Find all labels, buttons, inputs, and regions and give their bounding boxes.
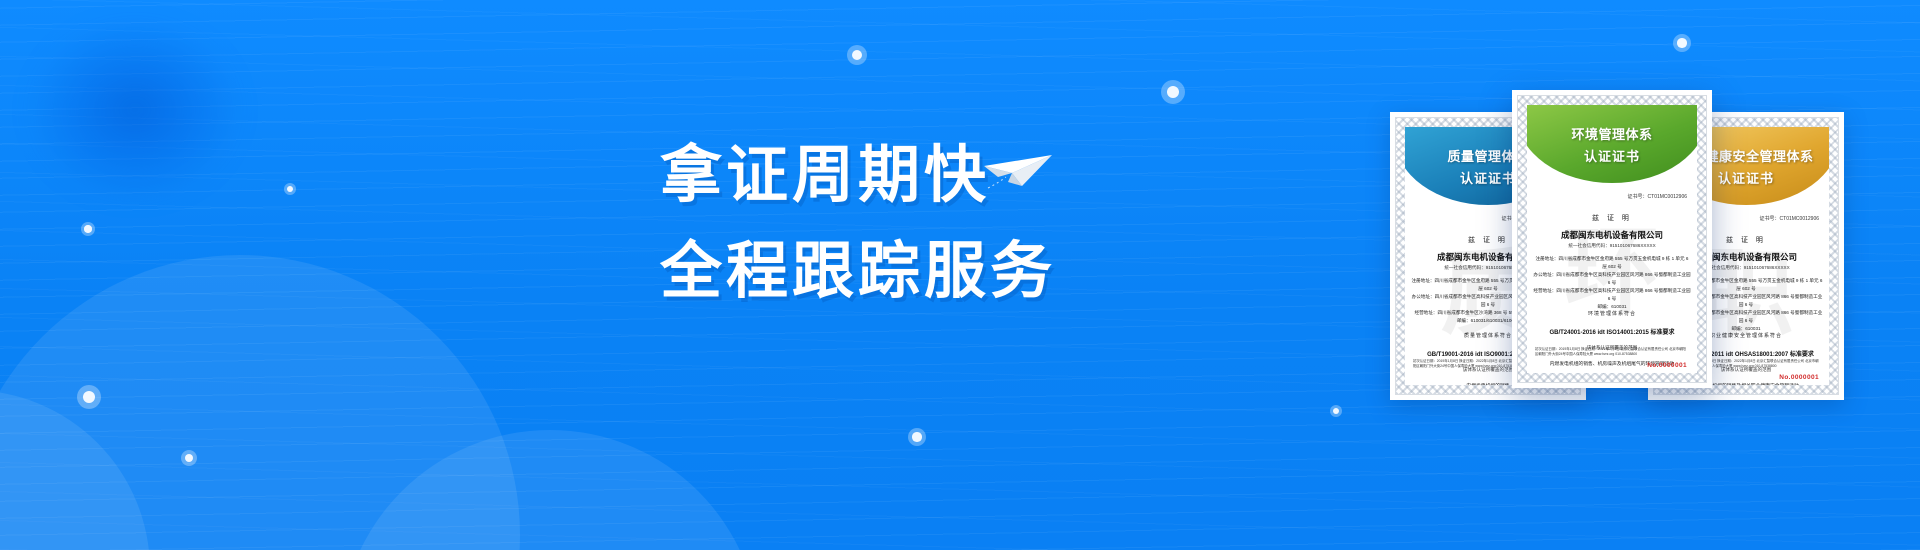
headline-row-2: 全程跟踪服务 xyxy=(660,234,1120,310)
certificate-address-line: 办公地址：四川省成都市金牛区高科技产业园区风河路 866 号蜀都制造工业园 6 … xyxy=(1533,271,1691,287)
certificate-address-line: 注册地址：四川省成都市金牛区金府路 555 号万贯五金机电城 9 栋 1 单元 … xyxy=(1533,255,1691,271)
certificate-title-band: 环境管理体系 认证证书 xyxy=(1527,105,1697,183)
certificate-serial: No.0000001 xyxy=(1647,362,1687,369)
headline-row-1: 拿证周期快 xyxy=(660,138,1120,214)
bubble-decoration-0 xyxy=(847,45,867,65)
certificate-credit-code: 统一社会信用代码：915101067686XXXXX xyxy=(1527,243,1697,249)
certificate-addresses: 注册地址：四川省成都市金牛区金府路 555 号万贯五金机电城 9 栋 1 单元 … xyxy=(1533,255,1691,311)
certificate-heading: 兹 证 明 xyxy=(1527,213,1697,223)
promo-banner: 拿证周期快 全程跟踪服务 质 质量管理体系 认证证书 xyxy=(0,0,1920,550)
certificate-footer: 初次认证日期：2019年1月8日 换证日期：2022年1月8日 北京汇智联合认证… xyxy=(1535,347,1689,357)
bubble-decoration-7 xyxy=(908,428,926,446)
headline-line-2: 全程跟踪服务 xyxy=(660,234,1056,310)
certificate-title-line2: 认证证书 xyxy=(1460,168,1516,187)
certificate-serial: No.0000001 xyxy=(1779,374,1819,381)
certificate-number: 证书号：CT01MC0012906 xyxy=(1760,215,1819,222)
certificate-title-line2: 认证证书 xyxy=(1584,146,1640,165)
bubble-decoration-3 xyxy=(284,183,296,195)
certificate-standard: GB/T24001-2016 idt ISO14001:2015 标准要求 xyxy=(1527,327,1697,336)
certificate-title-line2: 认证证书 xyxy=(1718,168,1774,187)
certificate-address-line: 经营地址：四川省成都市金牛区高科技产业园区风河路 866 号蜀都制造工业园 6 … xyxy=(1533,287,1691,303)
certificate-number: 证书号：CT01MC0012906 xyxy=(1628,193,1687,200)
background-glow-blob xyxy=(30,20,240,200)
certificate-system-name: 环境管理体系符合 xyxy=(1527,310,1697,317)
headline-line-1: 拿证周期快 xyxy=(660,138,990,214)
certificate-company: 成都闽东电机设备有限公司 xyxy=(1527,229,1697,241)
certificate-title-line1: 环境管理体系 xyxy=(1572,124,1653,143)
paper-plane-icon xyxy=(982,146,1056,192)
certificate-stack: 质 质量管理体系 认证证书 证书号：CT01MC0012906 兹 证 明 成都… xyxy=(1380,0,1920,550)
bubble-decoration-4 xyxy=(81,222,95,236)
bubble-decoration-1 xyxy=(1161,80,1185,104)
certificate-environment[interactable]: 环 环境管理体系 认证证书 证书号：CT01MC0012906 兹 证 明 成都… xyxy=(1512,90,1712,388)
bubble-decoration-6 xyxy=(181,450,197,466)
bubble-decoration-5 xyxy=(77,385,101,409)
headline-block: 拿证周期快 全程跟踪服务 xyxy=(660,138,1120,310)
bubble-decoration-8 xyxy=(1330,405,1342,417)
